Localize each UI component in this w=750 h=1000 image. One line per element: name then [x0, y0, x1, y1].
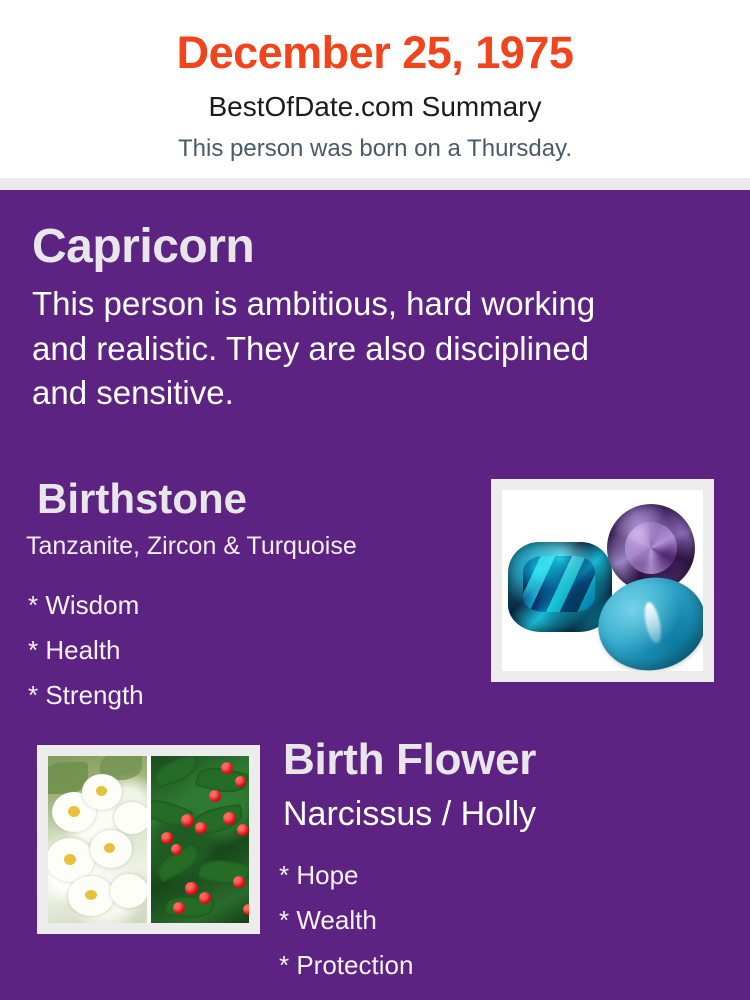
site-summary-subtitle: BestOfDate.com Summary: [0, 75, 750, 121]
birthstone-names: Tanzanite, Zircon & Turquoise: [26, 534, 357, 559]
list-item: * Strength: [28, 673, 144, 718]
narcissus-photo-half: [48, 756, 147, 923]
birth-flower-heading: Birth Flower: [283, 738, 536, 782]
infographic-page: December 25, 1975 BestOfDate.com Summary…: [0, 0, 750, 1000]
zodiac-description: This person is ambitious, hard working a…: [32, 282, 652, 416]
birthstone-heading: Birthstone: [37, 478, 247, 520]
list-item: * Wisdom: [28, 583, 144, 628]
page-title: December 25, 1975: [0, 0, 750, 75]
holly-photo-half: [151, 756, 250, 923]
birth-flower-traits-list: * Hope * Wealth * Protection: [279, 853, 413, 988]
birthstone-traits-list: * Wisdom * Health * Strength: [28, 583, 144, 718]
zodiac-section: Capricorn This person is ambitious, hard…: [32, 222, 672, 416]
gemstones-image: [502, 490, 703, 671]
list-item: * Wealth: [279, 898, 413, 943]
list-item: * Hope: [279, 853, 413, 898]
birthstone-image-frame: [491, 479, 714, 682]
zircon-gem-icon: [508, 542, 612, 632]
birth-flower-image-frame: [37, 745, 260, 934]
narcissus-holly-image: [48, 756, 249, 923]
header-banner: December 25, 1975 BestOfDate.com Summary…: [0, 0, 750, 178]
header-divider: [0, 178, 750, 190]
zodiac-sign-heading: Capricorn: [32, 222, 672, 272]
birth-flower-names: Narcissus / Holly: [283, 797, 536, 831]
born-day-text: This person was born on a Thursday.: [0, 121, 750, 161]
list-item: * Health: [28, 628, 144, 673]
list-item: * Protection: [279, 943, 413, 988]
